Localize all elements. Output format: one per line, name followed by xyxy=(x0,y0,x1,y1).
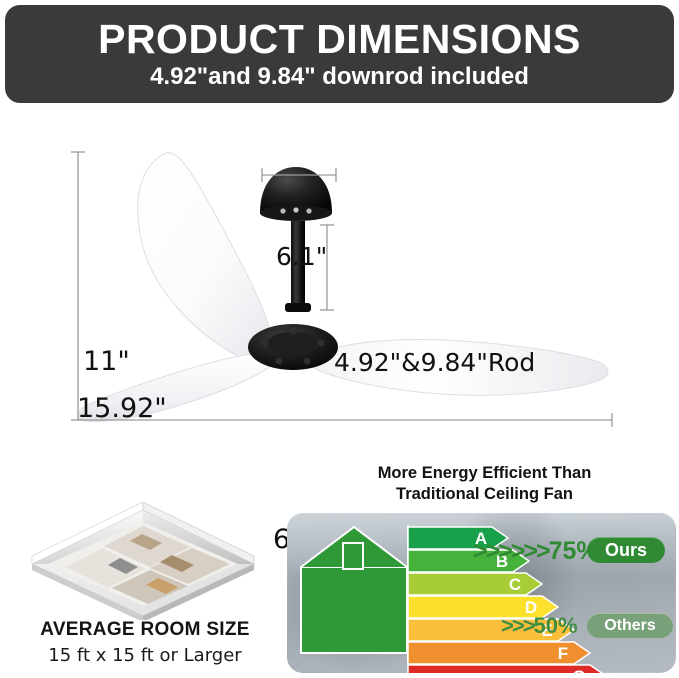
hub-bolt-3 xyxy=(276,358,283,365)
fan-blade-upper-left xyxy=(138,153,272,362)
room-size-title: AVERAGE ROOM SIZE xyxy=(0,619,290,641)
average-room-size-card: AVERAGE ROOM SIZE 15 ft x 15 ft or Large… xyxy=(0,495,290,678)
page-title: PRODUCT DIMENSIONS xyxy=(98,19,581,61)
svg-text:C: C xyxy=(509,575,521,594)
hub-bolt-4 xyxy=(304,358,311,365)
height-label-secondary: 15.92" xyxy=(77,393,167,424)
others-chevrons: >>> xyxy=(501,613,534,638)
canopy-base xyxy=(260,205,332,221)
room-size-subtitle: 15 ft x 15 ft or Larger xyxy=(0,645,290,666)
energy-heading: More Energy Efficient Than Traditional C… xyxy=(290,463,679,504)
house-chimney xyxy=(343,543,363,569)
downrod-label: 4.92"&9.84"Rod xyxy=(334,348,535,377)
energy-heading-line1: More Energy Efficient Than xyxy=(290,463,679,484)
ours-percent-group: >>>>>>75% xyxy=(473,537,599,566)
downrod-coupler xyxy=(285,303,311,312)
rating-bar-c: C xyxy=(408,573,542,595)
page-subtitle: 4.92"and 9.84" downrod included xyxy=(150,64,529,90)
canopy-width-label: 6.1" xyxy=(276,242,327,271)
canopy-screw-right xyxy=(306,208,311,213)
isometric-floorplan-icon xyxy=(22,500,268,620)
others-percent: 50% xyxy=(534,613,578,638)
hub-bolt-1 xyxy=(262,340,269,347)
height-label-primary: 11" xyxy=(83,346,130,377)
ours-badge: Ours xyxy=(587,537,665,563)
svg-text:F: F xyxy=(558,644,568,663)
motor-housing-inner xyxy=(267,332,319,356)
energy-heading-line2: Traditional Ceiling Fan xyxy=(290,484,679,505)
energy-efficiency-panel: A B C D E F G xyxy=(287,513,676,673)
rating-bar-f: F xyxy=(408,642,590,664)
hub-bolt-5 xyxy=(290,328,297,335)
ours-chevrons: >>>>>> xyxy=(473,537,549,565)
canopy-screw-center xyxy=(293,207,298,212)
hub-bolt-2 xyxy=(318,340,325,347)
others-percent-group: >>>50% xyxy=(501,613,578,639)
canopy-screw-left xyxy=(280,208,285,213)
others-badge: Others xyxy=(587,613,673,638)
fan-dimension-diagram: 6.1" 11" 15.92" 4.92"&9.84"Rod 60" xyxy=(0,103,679,453)
rating-bar-g: G xyxy=(408,665,606,673)
header-banner: PRODUCT DIMENSIONS 4.92"and 9.84" downro… xyxy=(5,5,674,103)
svg-text:G: G xyxy=(572,667,585,673)
